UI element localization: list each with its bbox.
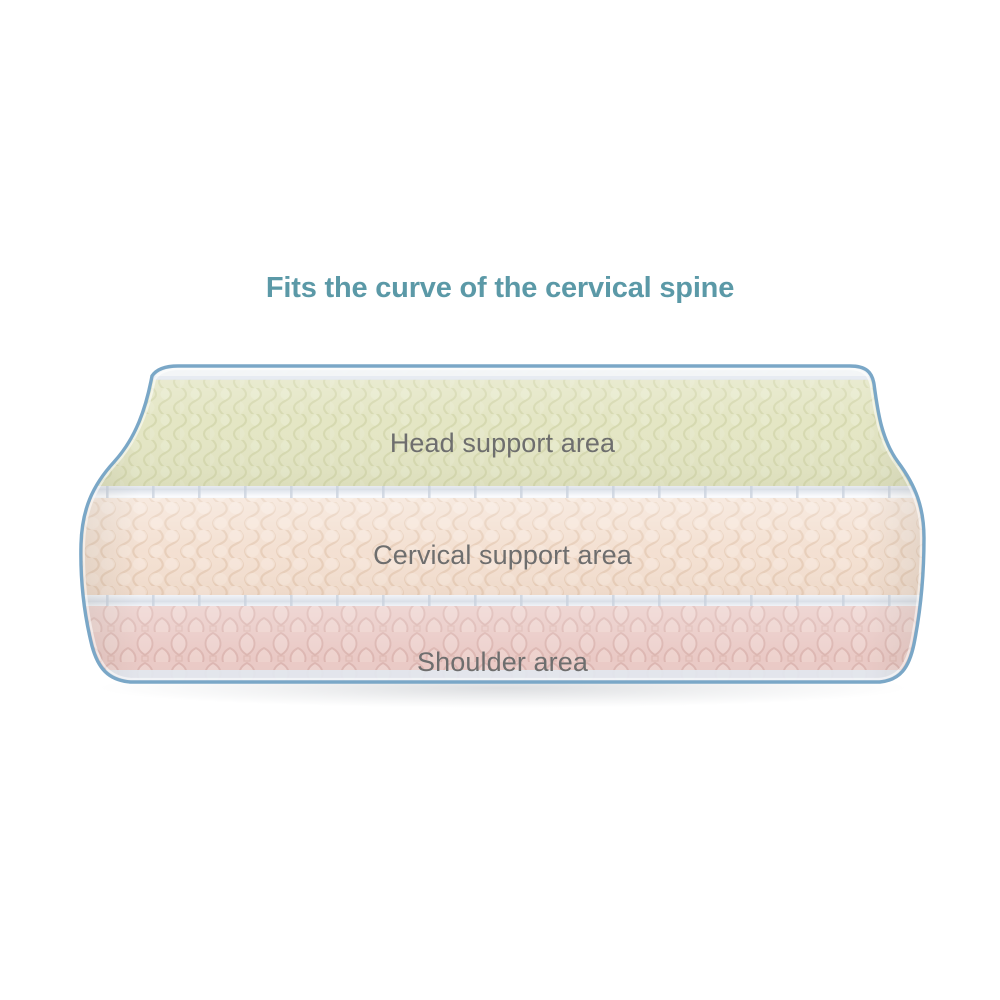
pillow-figure: Head support area Cervical support area … xyxy=(60,362,945,702)
pillow-graphic xyxy=(60,362,945,702)
product-illustration: Fits the curve of the cervical spine xyxy=(0,0,1000,1000)
page-title: Fits the curve of the cervical spine xyxy=(0,272,1000,305)
pillow-body xyxy=(60,362,945,702)
